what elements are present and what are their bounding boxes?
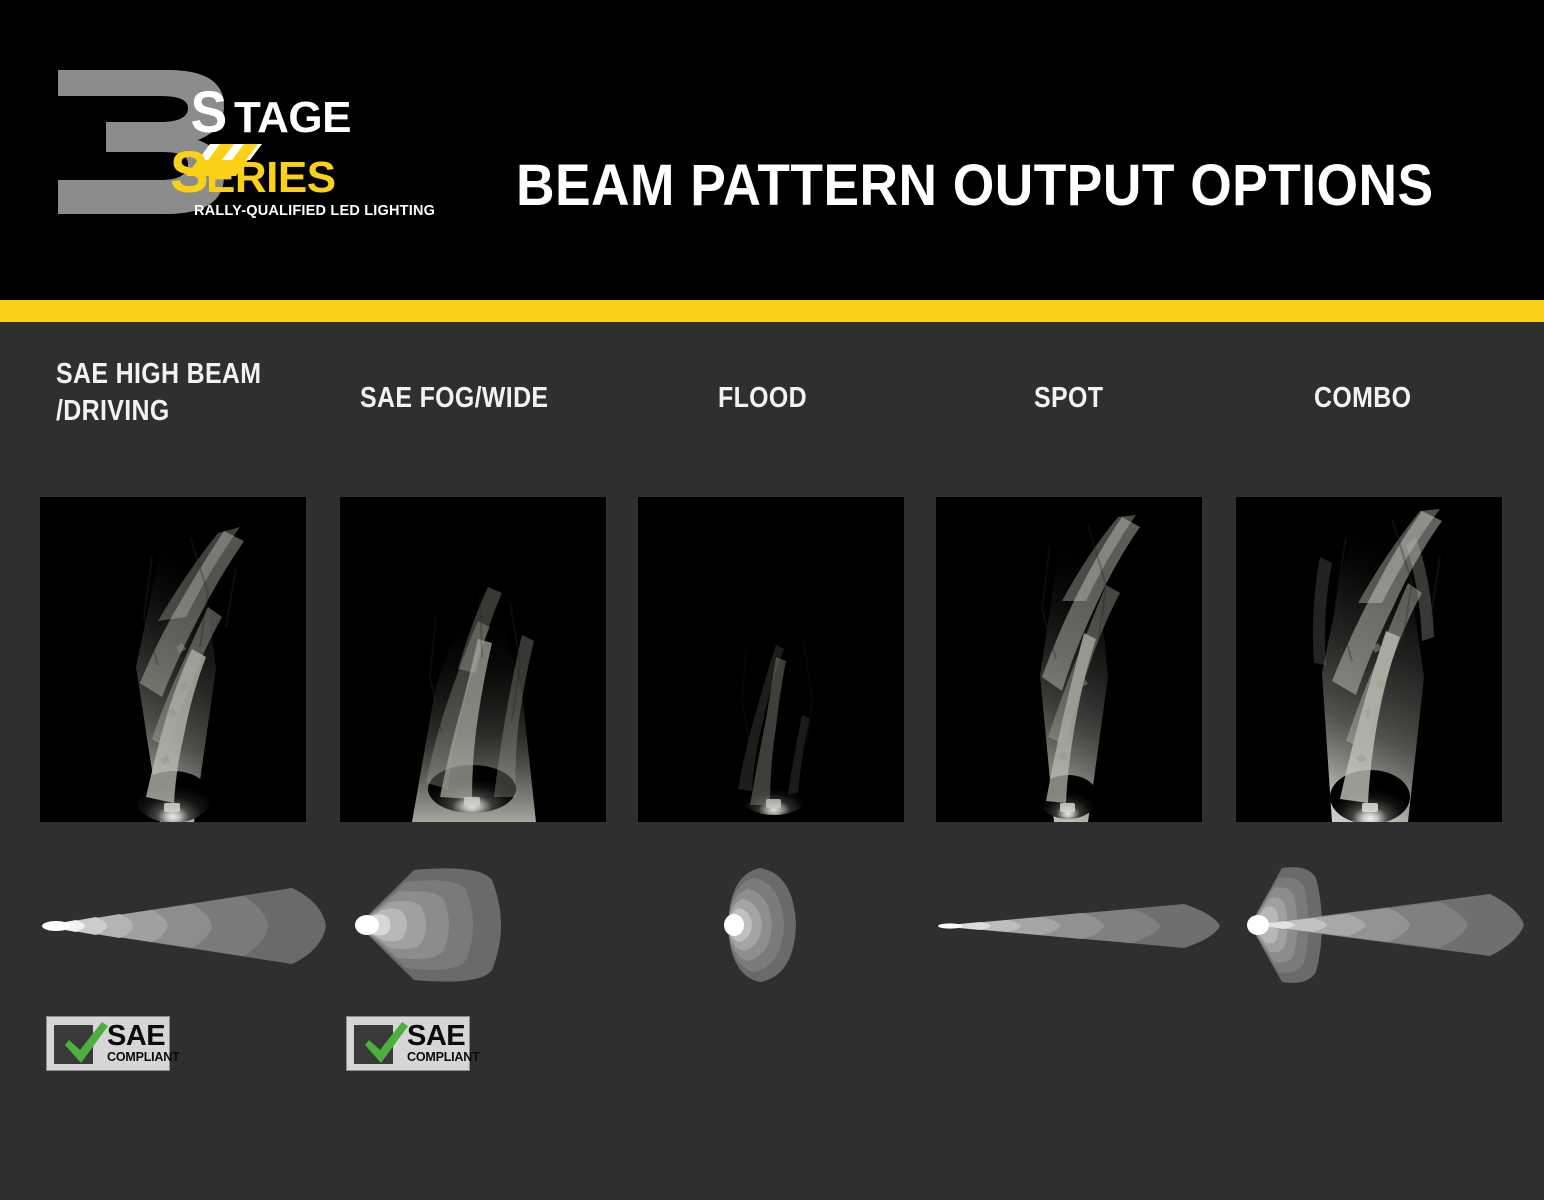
beam-options-grid: SAE HIGH BEAM /DRIVING [0,322,1544,1200]
column-header-label: SPOT [1034,380,1292,417]
header-banner: S TAGE S ERIES RALLY-QUALIFIED LED LIGHT… [0,0,1544,300]
beam-diagram-spot [936,860,1232,990]
beam-diagram-flood [638,860,934,990]
column-header-label: SAE HIGH BEAM /DRIVING [56,356,340,430]
beam-photo-flood [638,497,904,822]
svg-text:ERIES: ERIES [206,153,336,202]
beam-photo-sae-fog-wide [340,497,606,822]
column-header-label: SAE FOG/WIDE [360,380,635,417]
beam-photo-spot [936,497,1202,822]
badge-sae-text: SAE [107,1021,165,1051]
beam-diagram-combo [1236,860,1532,990]
sae-compliant-badge: SAE COMPLIANT [46,1016,170,1071]
beam-photo-combo [1236,497,1502,822]
column-header-label: FLOOD [718,380,976,417]
green-check-icon [359,1019,411,1069]
beam-diagram-driving [40,860,336,990]
logo-stage-text: S [191,80,227,145]
badge-compliant-text: COMPLIANT [407,1050,480,1064]
brand-logo: S TAGE S ERIES RALLY-QUALIFIED LED LIGHT… [48,52,468,232]
badge-compliant-text: COMPLIANT [107,1050,180,1064]
beam-diagram-fog-wide [340,860,636,990]
logo-series-text: S [170,140,208,205]
page-title: BEAM PATTERN OUTPUT OPTIONS [516,152,1445,222]
column-header-label: COMBO [1314,380,1544,417]
logo-tagline: RALLY-QUALIFIED LED LIGHTING [194,203,435,219]
header-divider-bar [0,300,1544,322]
green-check-icon [59,1019,111,1069]
svg-text:TAGE: TAGE [234,93,351,142]
sae-compliant-badge: SAE COMPLIANT [346,1016,470,1071]
beam-photo-sae-high-beam-driving [40,497,306,822]
badge-sae-text: SAE [407,1021,465,1051]
